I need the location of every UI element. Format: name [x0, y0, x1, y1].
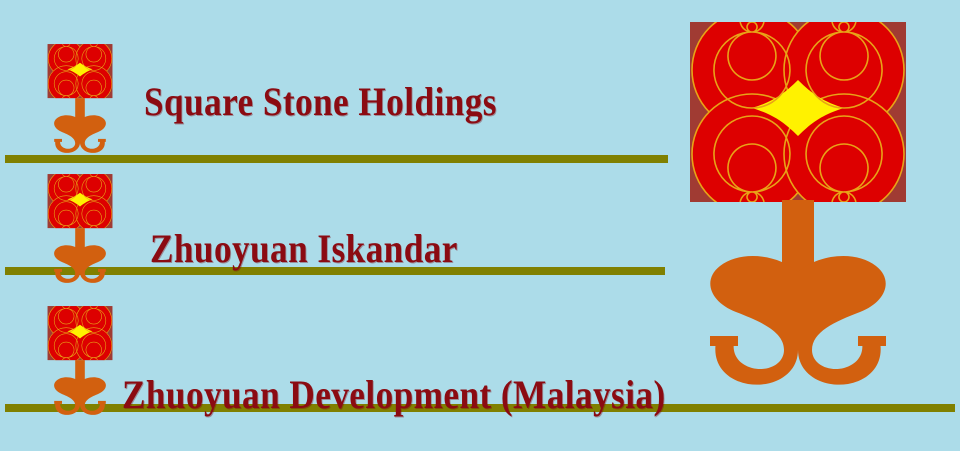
- zhuoyuan-spiral-emblem-small-icon: [44, 44, 116, 159]
- row-label: Square Stone Holdings: [144, 78, 497, 125]
- list-item[interactable]: Zhuoyuan Iskandar: [44, 174, 500, 289]
- zhuoyuan-spiral-emblem-small-icon: [44, 306, 116, 421]
- row-label: Zhuoyuan Development (Malaysia): [122, 371, 666, 418]
- list-item[interactable]: Square Stone Holdings: [44, 44, 545, 159]
- poster-canvas: Square Stone Holdings: [0, 0, 960, 451]
- zhuoyuan-spiral-emblem-large-icon: [678, 22, 918, 393]
- zhuoyuan-spiral-emblem-small-icon: [44, 174, 116, 289]
- list-item[interactable]: Zhuoyuan Development (Malaysia): [44, 306, 740, 421]
- row-label: Zhuoyuan Iskandar: [150, 225, 458, 272]
